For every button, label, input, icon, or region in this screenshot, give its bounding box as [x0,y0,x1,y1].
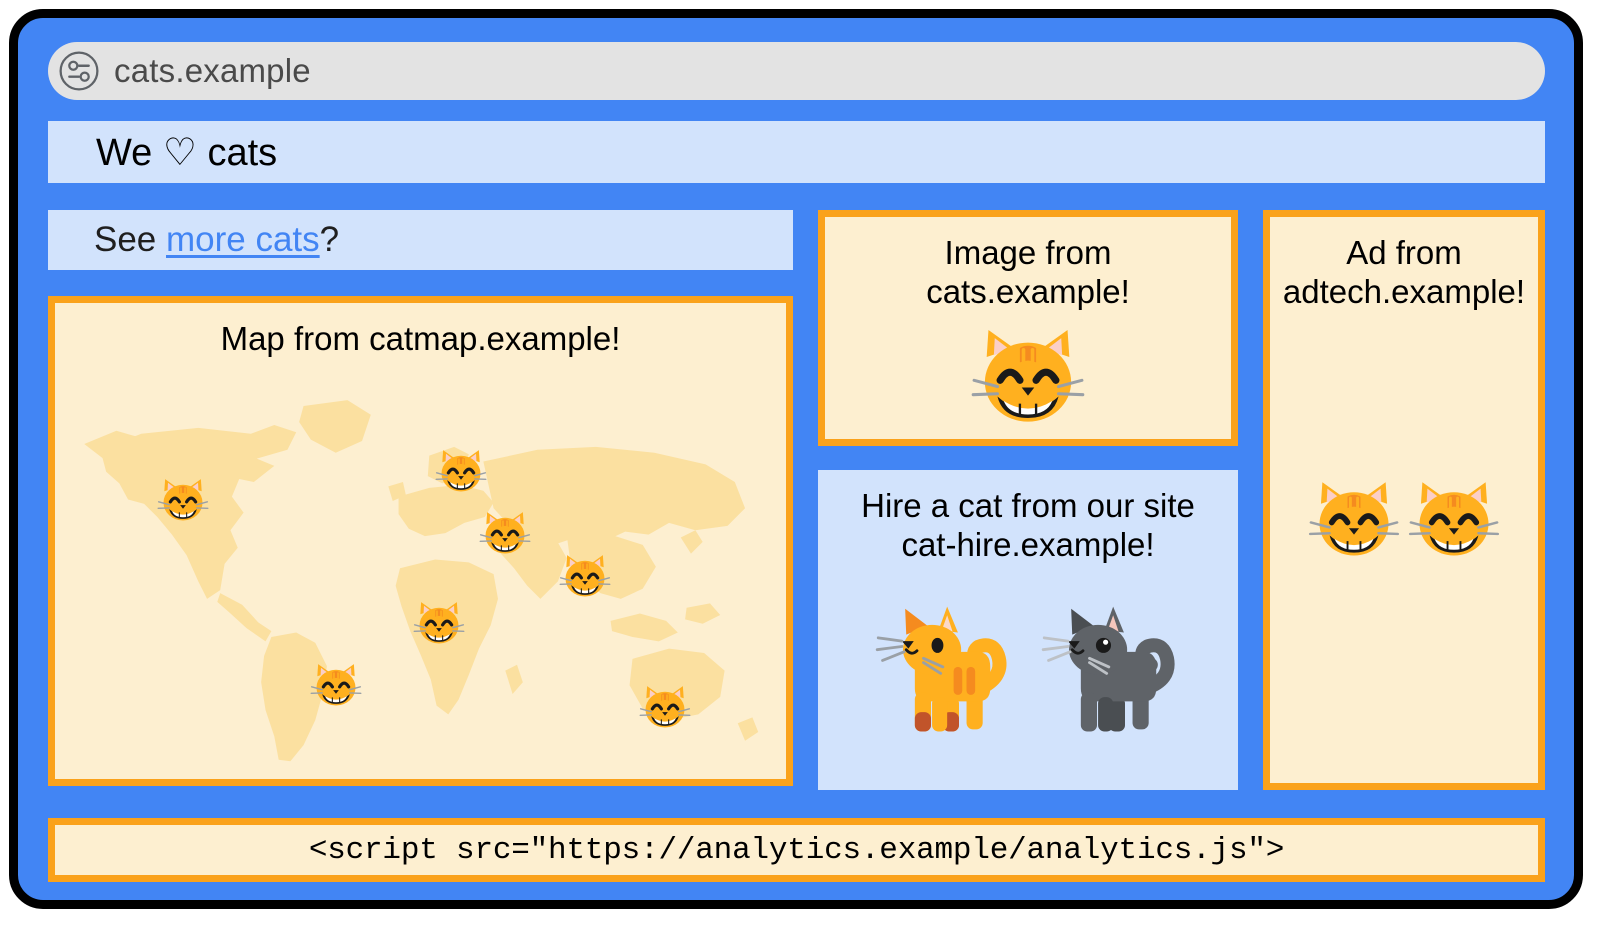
ad-panel-title-line1: Ad from [1270,234,1538,273]
map-marker[interactable] [559,551,611,603]
grinning-cat-face-icon [971,321,1086,436]
map-panel[interactable]: Map from catmap.example! [48,296,793,786]
grinning-cat-face-icon [1408,475,1500,567]
more-cats-link[interactable]: more cats [166,220,320,259]
map-marker[interactable] [639,682,691,734]
image-panel[interactable]: Image from cats.example! [818,210,1238,446]
grinning-cat-face-icon [435,446,487,498]
see-more-cats-line: See more cats? [94,220,339,260]
hire-panel-title-line1: Hire a cat from our site [818,487,1238,526]
script-tag-code: <script src="https://analytics.example/a… [309,833,1284,868]
grinning-cat-face-icon [559,551,611,603]
map-marker[interactable] [157,475,209,527]
hire-panel[interactable]: Hire a cat from our site cat-hire.exampl… [818,470,1238,790]
browser-window: cats.example We ♡ cats See more cats? Ma… [9,9,1583,909]
grinning-cat-face-icon [1308,475,1400,567]
ad-panel-cats [1270,475,1538,567]
ad-panel-title: Ad from adtech.example! [1270,234,1538,312]
image-panel-title-line2: cats.example! [825,273,1231,312]
grinning-cat-face-icon [157,475,209,527]
hire-panel-title: Hire a cat from our site cat-hire.exampl… [818,487,1238,565]
orange-cat-icon [875,598,1015,738]
map-panel-title: Map from catmap.example! [55,320,786,359]
map-marker[interactable] [479,508,531,560]
grinning-cat-face-icon [639,682,691,734]
image-panel-title-line1: Image from [825,234,1231,273]
hire-panel-title-line2: cat-hire.example! [818,526,1238,565]
link-suffix-text: ? [320,220,339,259]
map-marker[interactable] [413,598,465,650]
grinning-cat-face-icon [413,598,465,650]
page-headline: We ♡ cats [96,130,277,175]
link-prefix-text: See [94,220,166,259]
ad-panel-title-line2: adtech.example! [1270,273,1538,312]
url-text[interactable]: cats.example [114,52,311,90]
url-bar[interactable]: cats.example [48,42,1545,100]
hire-panel-cats [818,598,1238,738]
map-marker[interactable] [310,660,362,712]
grinning-cat-face-icon [479,508,531,560]
grinning-cat-face-icon [310,660,362,712]
image-panel-title: Image from cats.example! [825,234,1231,312]
headline-banner: We ♡ cats [48,121,1545,183]
gray-cat-icon [1041,598,1181,738]
link-banner: See more cats? [48,210,793,270]
tune-icon[interactable] [58,50,100,92]
ad-panel[interactable]: Ad from adtech.example! [1263,210,1545,790]
script-bar: <script src="https://analytics.example/a… [48,818,1545,882]
map-marker[interactable] [435,446,487,498]
